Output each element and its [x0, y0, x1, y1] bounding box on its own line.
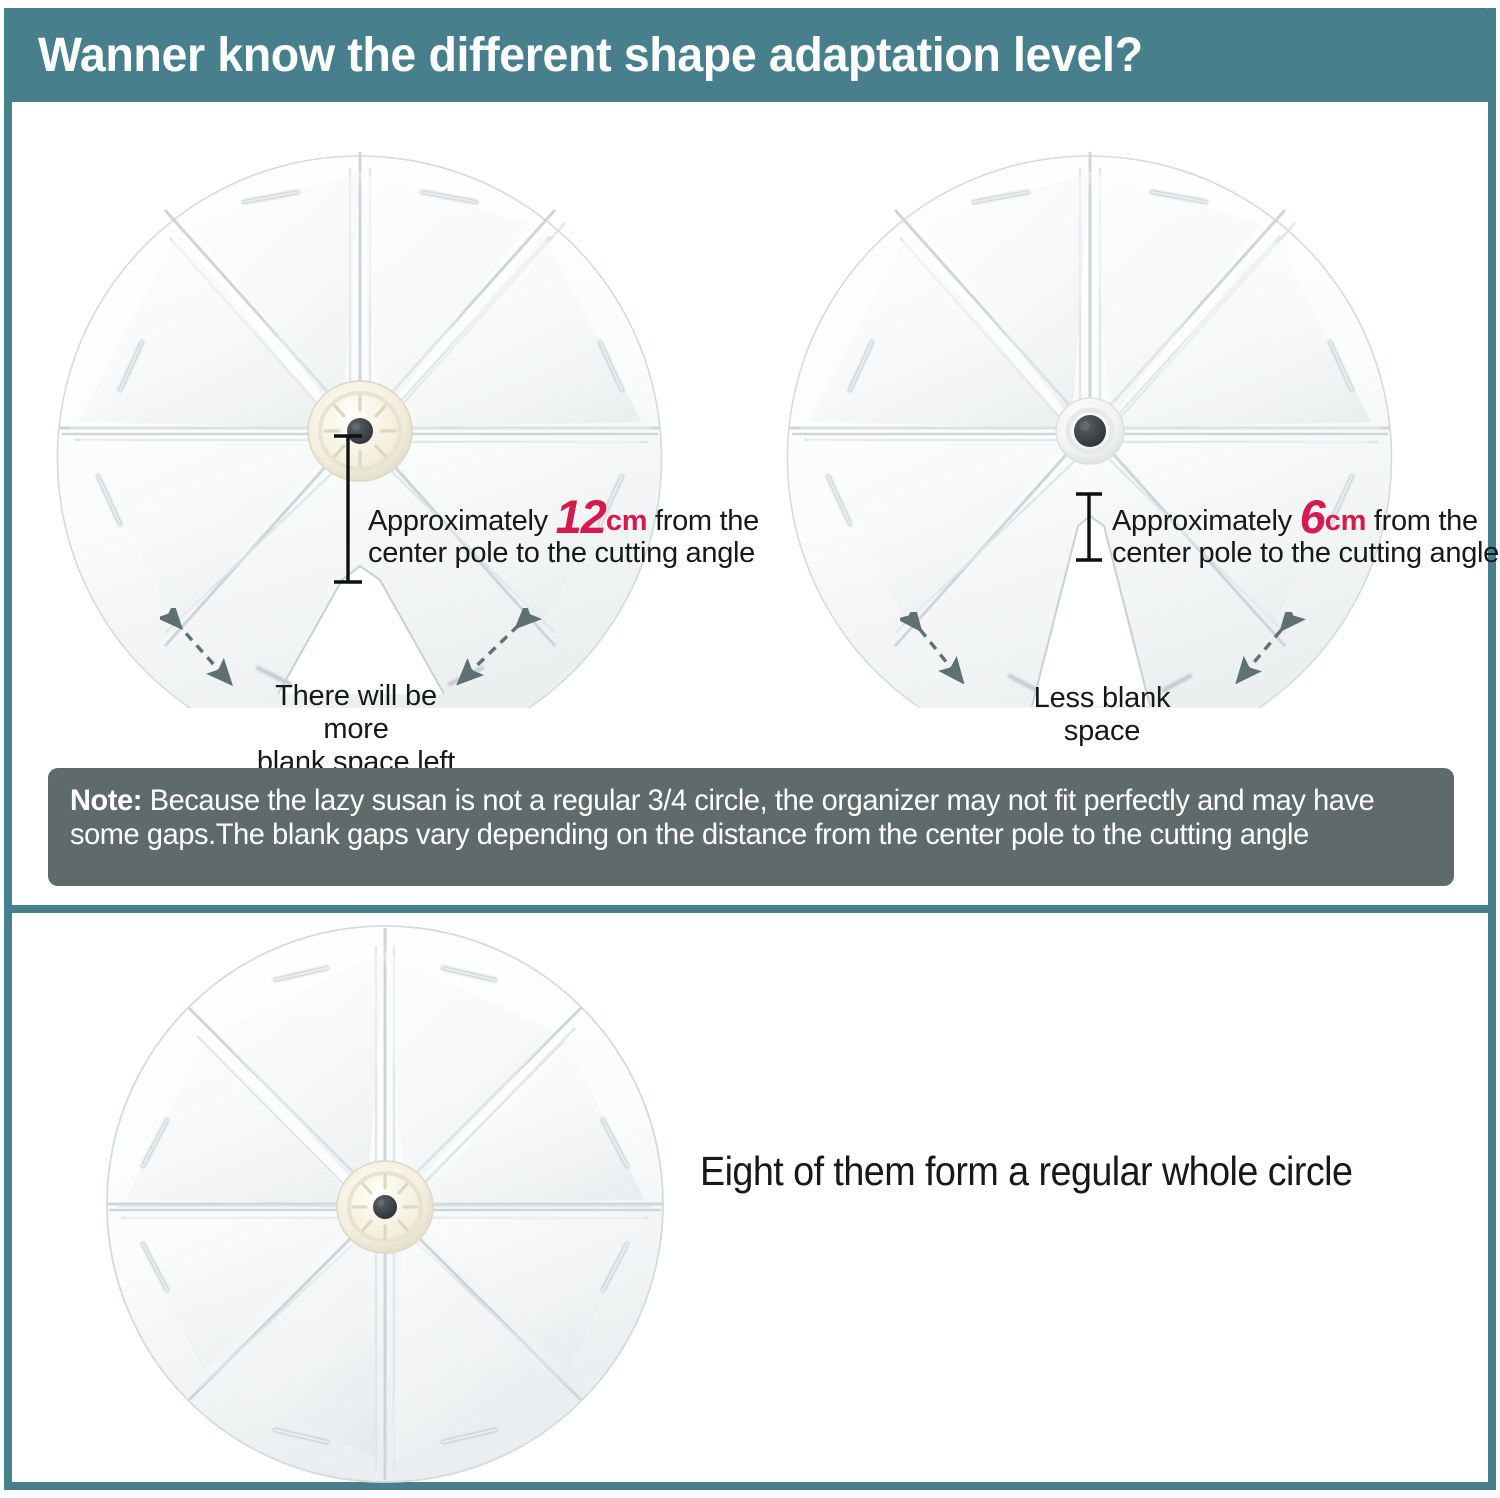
bottom-product-illustration: [75, 918, 695, 1490]
right-product-illustration: [760, 128, 1440, 708]
page-title: Wanner know the different shape adaptati…: [38, 28, 1143, 83]
center-hub: [1056, 398, 1124, 464]
header-banner: Wanner know the different shape adaptati…: [4, 8, 1496, 102]
right-measurement-annotation: Approximately 6cm from the center pole t…: [1112, 498, 1499, 570]
left-gap-caption: There will be more blank space left: [248, 680, 464, 779]
right-gap-arrow-outer: [1230, 612, 1310, 684]
left-measure-prefix: Approximately: [368, 505, 556, 537]
left-product-illustration: [30, 128, 710, 708]
right-gap-arrow-inner: [900, 612, 980, 684]
left-measure-unit: cm: [606, 505, 647, 537]
frame-border-left: [4, 8, 12, 1490]
note-label: Note:: [70, 784, 142, 817]
note-body: Because the lazy susan is not a regular …: [70, 784, 1374, 851]
left-measure-suffix: from the: [647, 505, 759, 537]
frame-border-right: [1488, 8, 1496, 1490]
right-gap-caption-line1: Less blank space: [1002, 682, 1202, 748]
note-text-block: Note: Because the lazy susan is not a re…: [70, 784, 1384, 851]
left-gap-arrow-inner: [160, 608, 240, 688]
right-measure-line2: center pole to the cutting angle: [1112, 537, 1499, 569]
left-gap-arrow-outer: [452, 608, 542, 688]
left-dimension-line: [330, 430, 366, 590]
right-dimension-line: [1072, 488, 1106, 568]
right-measure-prefix: Approximately: [1112, 505, 1300, 537]
left-gap-caption-line1: There will be more: [248, 680, 464, 746]
left-measure-line2: center pole to the cutting angle: [368, 537, 759, 569]
left-measure-value: 12: [556, 490, 606, 543]
right-gap-caption: Less blank space: [1002, 682, 1202, 748]
center-hub: [337, 1161, 433, 1253]
section-divider: [4, 905, 1496, 913]
note-box: Note: Because the lazy susan is not a re…: [48, 768, 1454, 886]
right-measure-suffix: from the: [1366, 505, 1478, 537]
left-measurement-annotation: Approximately 12cm from the center pole …: [368, 498, 759, 570]
right-measure-value: 6: [1300, 490, 1325, 543]
bottom-caption: Eight of them form a regular whole circl…: [700, 1148, 1352, 1195]
right-measure-unit: cm: [1325, 505, 1366, 537]
infographic-page: Wanner know the different shape adaptati…: [0, 0, 1500, 1498]
